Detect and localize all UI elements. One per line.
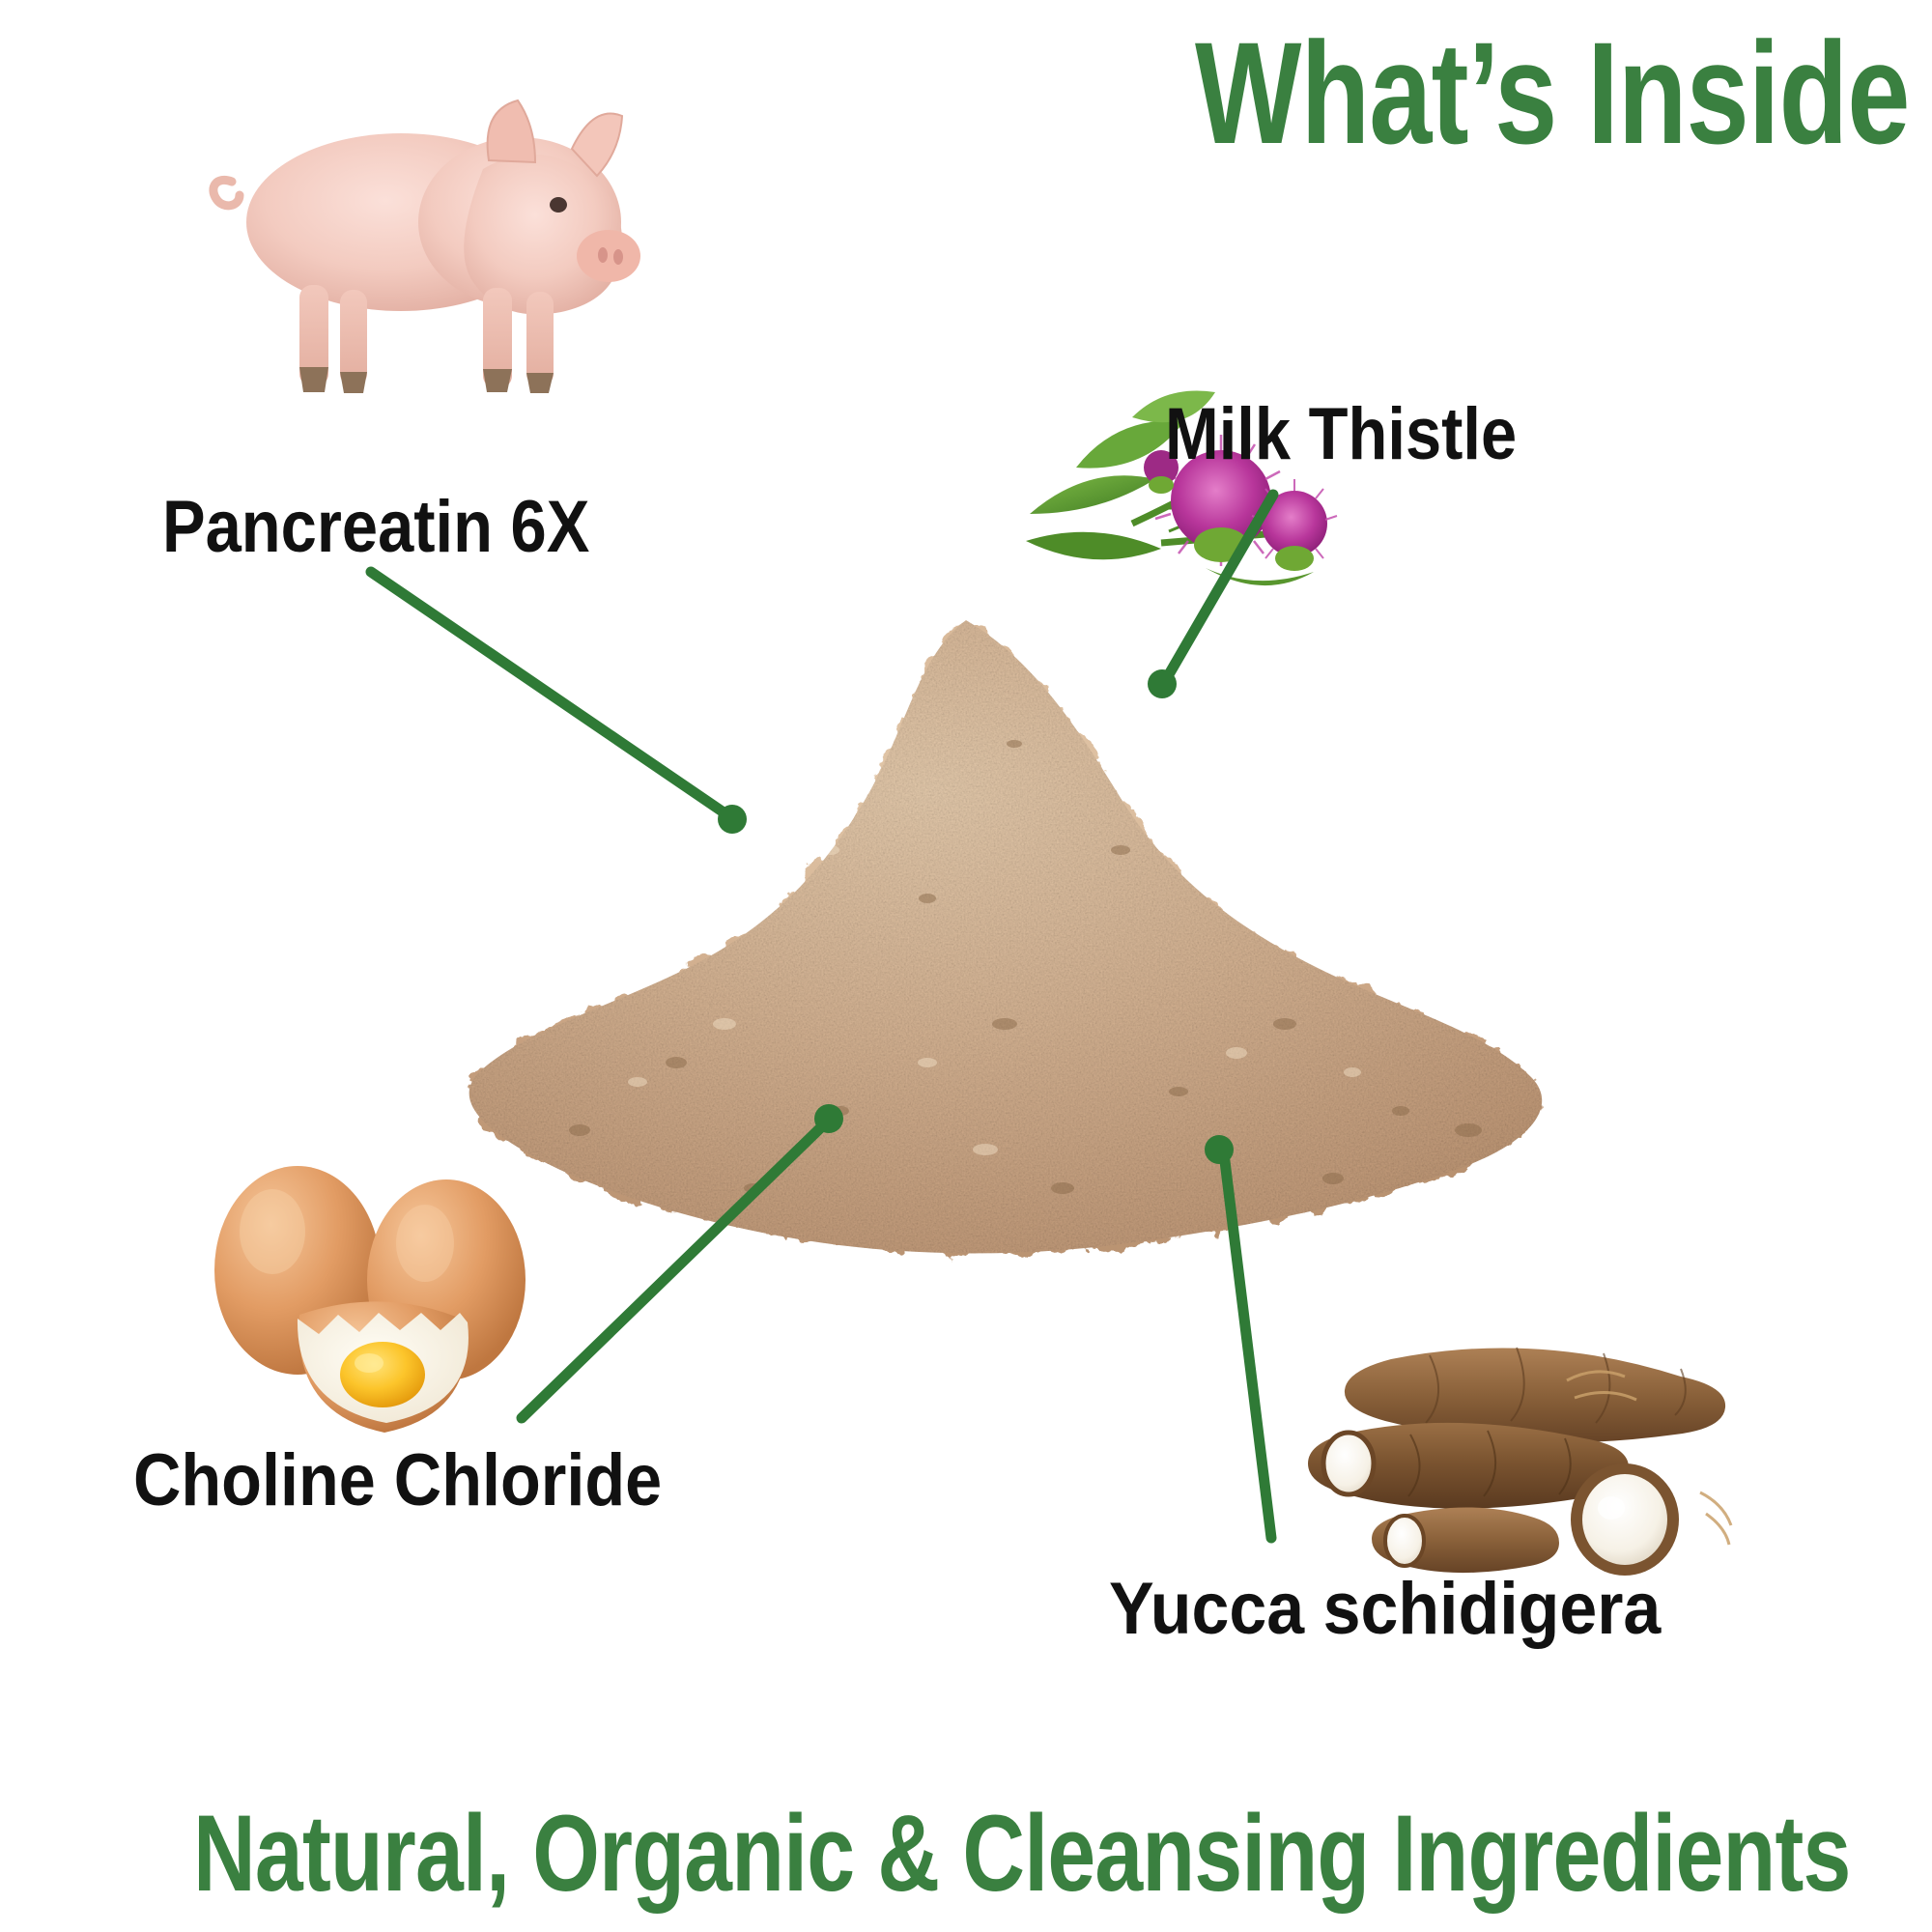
yucca-root-photo — [1285, 1309, 1748, 1589]
footer-tagline: Natural, Organic & Cleansing Ingredients — [193, 1797, 1739, 1911]
infographic-canvas: What’s Inside — [0, 0, 1932, 1932]
callout-label-pancreatin: Pancreatin 6X — [162, 491, 589, 564]
callout-label-choline-chloride: Choline Chloride — [133, 1444, 662, 1518]
callout-label-yucca-schidigera: Yucca schidigera — [1109, 1573, 1661, 1646]
callout-label-milk-thistle: Milk Thistle — [1165, 398, 1517, 471]
eggs-photo — [184, 1135, 589, 1444]
piglet-photo — [193, 77, 657, 396]
